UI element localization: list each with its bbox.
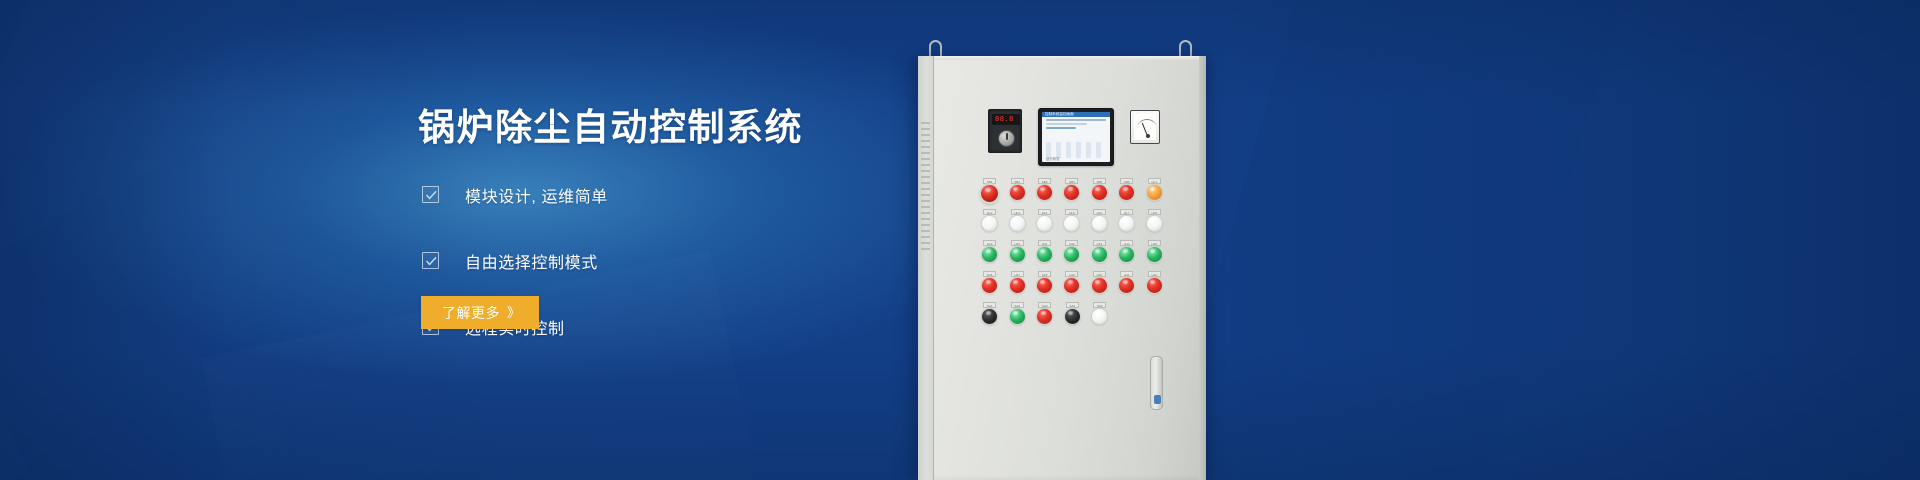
indicator-green-button[interactable] <box>1010 309 1025 324</box>
button-cell: SA3 <box>1031 302 1059 324</box>
button-tag-label: HL1 <box>1148 178 1161 184</box>
indicator-green-button[interactable] <box>982 247 997 262</box>
learn-more-button[interactable]: 了解更多 》 <box>421 296 539 329</box>
vfd-digits: 88.8 <box>995 116 1014 123</box>
button-cell: H19 <box>1058 271 1085 293</box>
button-cell: H13 <box>1086 240 1113 262</box>
analog-panel-meter <box>1130 110 1160 144</box>
indicator-red-button[interactable] <box>1037 309 1052 324</box>
button-tag-label: SB6 <box>1120 178 1133 184</box>
button-cell: SB2 <box>1003 178 1030 200</box>
cabinet-top-edge <box>918 56 1206 60</box>
hmi-touch-panel[interactable]: 控制系统监控画面 运行状态 <box>1038 108 1114 166</box>
louvre-slot <box>921 242 930 244</box>
louvre-slot <box>921 224 930 226</box>
button-cell: SB6 <box>1113 178 1140 200</box>
button-cell: SA2 <box>1004 302 1032 324</box>
button-cell: SA5 <box>1086 302 1114 324</box>
button-tag-label: HL8 <box>1148 209 1161 215</box>
indicator-green-button[interactable] <box>1037 247 1052 262</box>
louvre-slot <box>921 170 930 172</box>
louvre-slot <box>921 164 930 166</box>
indicator-white-button[interactable] <box>1064 216 1079 231</box>
button-cell: SB5 <box>1086 178 1113 200</box>
button-tag-label: HL3 <box>1011 209 1024 215</box>
button-cell: SA4 <box>1059 302 1087 324</box>
louvre-slot <box>921 218 930 220</box>
indicator-red-estop-button[interactable] <box>981 185 998 202</box>
button-cell: H21 <box>1113 271 1140 293</box>
button-tag-label: SA1 <box>983 302 996 308</box>
button-cell: HL1 <box>1141 178 1168 200</box>
button-cell: H18 <box>1031 271 1058 293</box>
indicator-red-button[interactable] <box>1092 185 1107 200</box>
button-cell: HL2 <box>976 209 1003 231</box>
cabinet-hinge-strip <box>918 56 934 480</box>
button-tag-label: H10 <box>1011 240 1024 246</box>
indicator-green-button[interactable] <box>1064 247 1079 262</box>
button-cell: HL8 <box>1141 209 1168 231</box>
cabinet-right-edge <box>1199 56 1206 480</box>
checkbox-checked-icon <box>422 186 439 203</box>
louvre-slot <box>921 236 930 238</box>
button-tag-label: SA4 <box>1066 302 1079 308</box>
lifting-eye-icon <box>1179 40 1192 57</box>
button-cell: H15 <box>1141 240 1168 262</box>
learn-more-label: 了解更多 <box>442 303 500 323</box>
meter-face <box>1134 114 1156 140</box>
louvre-slot <box>921 212 930 214</box>
button-tag-label: H19 <box>1065 271 1078 277</box>
indicator-red-button[interactable] <box>1064 185 1079 200</box>
indicator-green-button[interactable] <box>1119 247 1134 262</box>
cabinet-body: 88.8 控制系统监控画面 运行状态 <box>918 56 1206 480</box>
indicator-red-button[interactable] <box>1010 278 1025 293</box>
button-tag-label: H14 <box>1120 240 1133 246</box>
louvre-slot <box>921 176 930 178</box>
hmi-screen-title: 控制系统监控画面 <box>1045 112 1074 117</box>
white-indicator-row: HL2HL3HL4HL5HL6HL7HL8 <box>976 209 1168 240</box>
meter-scale-arc <box>1137 119 1156 129</box>
button-tag-label: HL4 <box>1038 209 1051 215</box>
control-cabinet-photo: 88.8 控制系统监控画面 运行状态 <box>900 0 1280 480</box>
hmi-footer-label: 运行状态 <box>1046 156 1060 161</box>
indicator-red-button[interactable] <box>1064 278 1079 293</box>
chevron-right-icon: 》 <box>507 306 518 319</box>
button-tag-label: SA3 <box>1038 302 1051 308</box>
hmi-line <box>1046 119 1106 121</box>
hmi-line <box>1046 127 1076 129</box>
hmi-title-bar: 控制系统监控画面 <box>1042 112 1110 117</box>
louvre-slot <box>921 152 930 154</box>
indicator-red-button[interactable] <box>1092 278 1107 293</box>
louvre-slot <box>921 188 930 190</box>
louvre-slot <box>921 122 930 124</box>
lifting-eye-icon <box>929 40 942 57</box>
indicator-black-button[interactable] <box>982 309 997 324</box>
button-cell: H22 <box>1141 271 1168 293</box>
indicator-red-button[interactable] <box>982 278 997 293</box>
vfd-knob[interactable] <box>998 130 1015 147</box>
button-cell: SB4 <box>1058 178 1085 200</box>
indicator-red-button[interactable] <box>1037 185 1052 200</box>
feature-spacer <box>422 211 608 244</box>
button-cell: HL6 <box>1086 209 1113 231</box>
button-tag-label: HL6 <box>1093 209 1106 215</box>
louvre-slot <box>921 230 930 232</box>
vfd-drive-unit[interactable]: 88.8 <box>988 109 1022 153</box>
page-title: 锅炉除尘自动控制系统 <box>418 106 803 150</box>
selector-switch-row: SA1SA2SA3SA4SA5 <box>976 302 1168 333</box>
button-cell: H16 <box>976 271 1003 293</box>
button-tag-label: SB2 <box>1011 178 1024 184</box>
checkbox-checked-icon <box>422 252 439 269</box>
indicator-red-button[interactable] <box>1147 278 1162 293</box>
indicator-green-button[interactable] <box>1010 247 1025 262</box>
feature-label: 模块设计, 运维简单 <box>465 183 608 207</box>
button-cell: H10 <box>1003 240 1030 262</box>
button-tag-label: H16 <box>983 271 996 277</box>
button-tag-label: H13 <box>1093 240 1106 246</box>
meter-hub <box>1146 134 1150 138</box>
hmi-line <box>1046 123 1087 125</box>
red-indicator-row: H16H17H18H19H20H21H22 <box>976 271 1168 302</box>
emergency-stop-row: SB1SB2SB3SB4SB5SB6HL1 <box>976 178 1168 209</box>
button-tag-label: H12 <box>1065 240 1078 246</box>
indicator-white-button[interactable] <box>1037 216 1052 231</box>
button-cell: H20 <box>1086 271 1113 293</box>
button-tag-label: SA5 <box>1093 302 1106 308</box>
button-tag-label: HL2 <box>983 209 996 215</box>
louvre-slot <box>921 128 930 130</box>
button-cell: H17 <box>1003 271 1030 293</box>
indicator-red-button[interactable] <box>1119 278 1134 293</box>
button-tag-label: HL9 <box>983 240 996 246</box>
indicator-green-button[interactable] <box>1092 247 1107 262</box>
button-tag-label: HL5 <box>1065 209 1078 215</box>
louvre-slot <box>921 194 930 196</box>
indicator-red-button[interactable] <box>1119 185 1134 200</box>
button-cell: SA1 <box>976 302 1004 324</box>
indicator-button-grid: SB1SB2SB3SB4SB5SB6HL1HL2HL3HL4HL5HL6HL7H… <box>976 178 1168 333</box>
louvre-slot <box>921 206 930 208</box>
button-tag-label: H11 <box>1038 240 1051 246</box>
button-tag-label: H20 <box>1093 271 1106 277</box>
indicator-white-button[interactable] <box>1092 309 1107 324</box>
button-tag-label: SA2 <box>1011 302 1024 308</box>
louvre-slot <box>921 134 930 136</box>
button-cell: SB3 <box>1031 178 1058 200</box>
button-tag-label: SB4 <box>1065 178 1078 184</box>
green-indicator-row: HL9H10H11H12H13H14H15 <box>976 240 1168 271</box>
button-tag-label: SB1 <box>983 178 996 184</box>
button-cell: H12 <box>1058 240 1085 262</box>
feature-item-1: 模块设计, 运维简单 <box>422 178 608 211</box>
vfd-screen: 88.8 <box>992 114 1020 125</box>
button-tag-label: H15 <box>1148 240 1161 246</box>
indicator-white-button[interactable] <box>1010 216 1025 231</box>
indicator-white-button[interactable] <box>1119 216 1134 231</box>
louvre-slot <box>921 146 930 148</box>
hero-banner: 锅炉除尘自动控制系统 模块设计, 运维简单 自由选择控制模式 <box>0 0 1920 480</box>
feature-item-2: 自由选择控制模式 <box>422 244 608 277</box>
indicator-red-button[interactable] <box>1037 278 1052 293</box>
button-tag-label: SB5 <box>1093 178 1106 184</box>
button-tag-label: H21 <box>1120 271 1133 277</box>
louvre-slot <box>921 248 930 250</box>
louvre-slot <box>921 200 930 202</box>
louvre-slot <box>921 158 930 160</box>
cabinet-door-handle[interactable] <box>1150 356 1163 410</box>
button-cell: HL3 <box>1003 209 1030 231</box>
indicator-white-button[interactable] <box>1092 216 1107 231</box>
indicator-orange-button[interactable] <box>1147 185 1162 200</box>
hmi-screen: 控制系统监控画面 运行状态 <box>1042 112 1110 162</box>
button-tag-label: H17 <box>1011 271 1024 277</box>
banner-copy: 锅炉除尘自动控制系统 模块设计, 运维简单 自由选择控制模式 <box>418 0 938 480</box>
louvre-slot <box>921 182 930 184</box>
button-cell: SB1 <box>976 178 1003 202</box>
button-cell: H14 <box>1113 240 1140 262</box>
button-cell: HL5 <box>1058 209 1085 231</box>
button-cell: HL4 <box>1031 209 1058 231</box>
feature-label: 自由选择控制模式 <box>465 249 598 273</box>
button-tag-label: HL7 <box>1120 209 1133 215</box>
indicator-green-button[interactable] <box>1147 247 1162 262</box>
indicator-black-button[interactable] <box>1065 309 1080 324</box>
button-cell: H11 <box>1031 240 1058 262</box>
button-tag-label: H22 <box>1148 271 1161 277</box>
indicator-red-button[interactable] <box>1010 185 1025 200</box>
button-tag-label: SB3 <box>1038 178 1051 184</box>
louvre-slot <box>921 140 930 142</box>
ventilation-louvres <box>921 122 930 254</box>
indicator-white-button[interactable] <box>1147 216 1162 231</box>
indicator-white-button[interactable] <box>982 216 997 231</box>
button-tag-label: H18 <box>1038 271 1051 277</box>
button-cell: HL9 <box>976 240 1003 262</box>
button-cell: HL7 <box>1113 209 1140 231</box>
